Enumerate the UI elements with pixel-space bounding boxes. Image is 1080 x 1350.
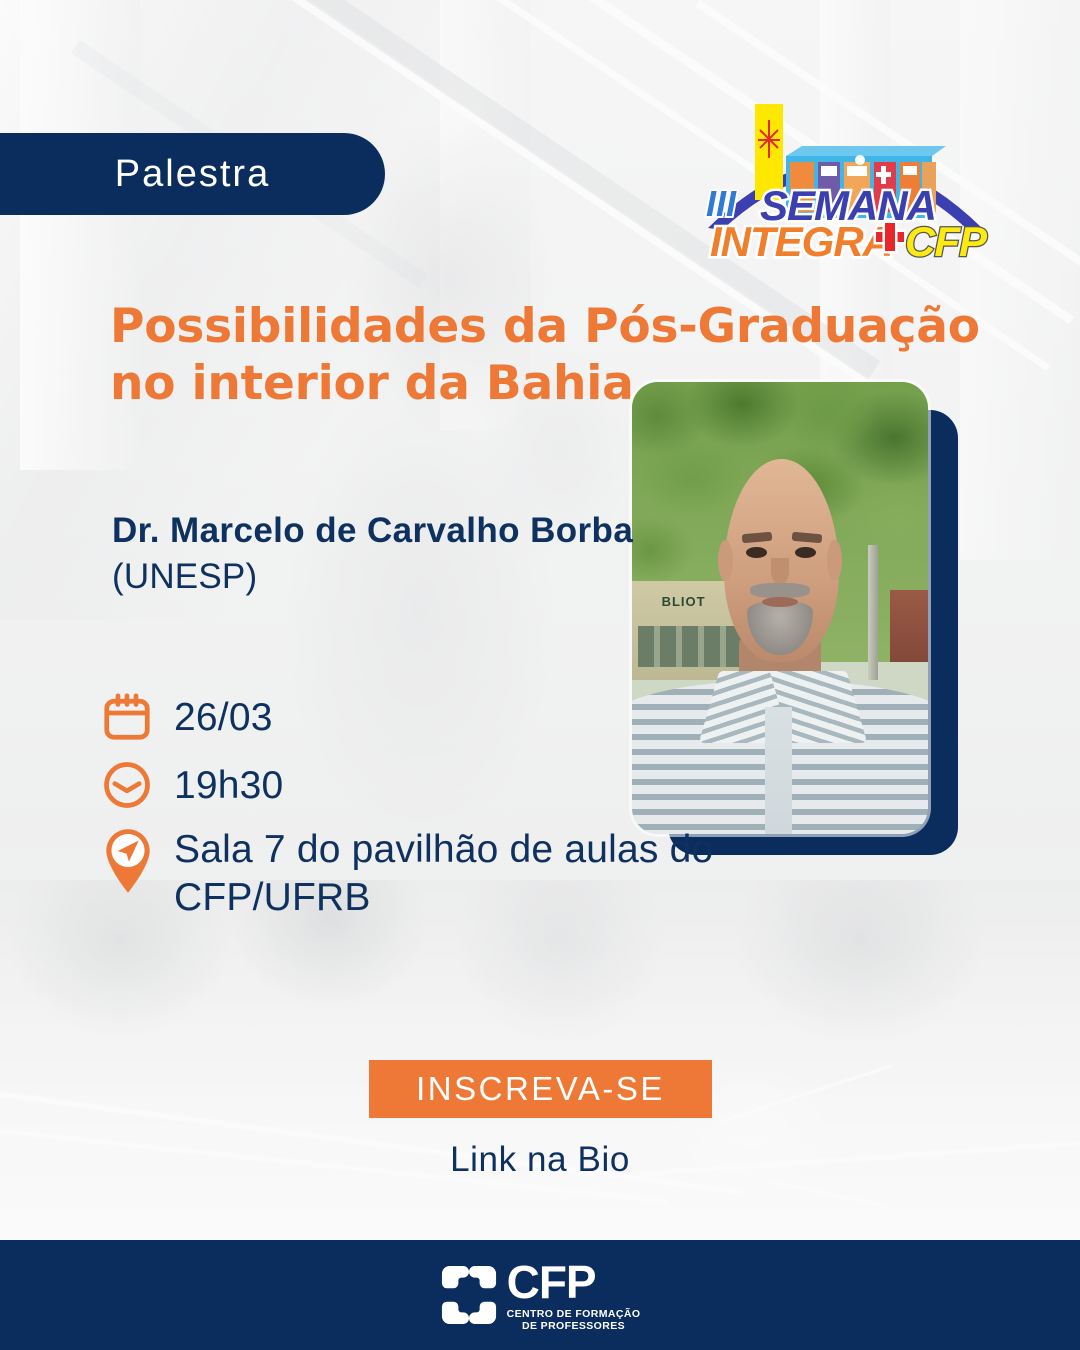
speaker-name: Dr. Marcelo de Carvalho Borba	[112, 511, 633, 550]
event-details: 26/03 19h30 Sala 7 do pavilhão de aulas …	[100, 690, 720, 935]
event-location: Sala 7 do pavilhão de aulas do CFP/UFRB	[174, 826, 720, 921]
event-time-row: 19h30	[100, 758, 720, 812]
event-time: 19h30	[174, 758, 283, 810]
event-date-row: 26/03	[100, 690, 720, 744]
cfp-bracket-icon	[440, 1264, 498, 1326]
speaker-block: Dr. Marcelo de Carvalho Borba (UNESP)	[112, 508, 652, 599]
event-date: 26/03	[174, 690, 273, 742]
inscreva-se-button[interactable]: INSCREVA-SE	[369, 1060, 712, 1118]
location-pin-icon	[100, 826, 174, 896]
cfp-logo: CFP CENTRO DE FORMAÇÃO DE PROFESSORES	[440, 1259, 641, 1332]
cfp-acronym: CFP	[507, 1259, 596, 1305]
palestra-badge: Palestra	[0, 133, 385, 215]
link-na-bio-text: Link na Bio	[0, 1140, 1080, 1180]
semana-integra-cfp-logo: III SEMANA INTEGRA CFP	[700, 100, 990, 270]
event-poster: Palestra	[0, 0, 1080, 1350]
footer-bar: CFP CENTRO DE FORMAÇÃO DE PROFESSORES	[0, 1240, 1080, 1350]
cfp-subtitle-line-1: CENTRO DE FORMAÇÃO	[507, 1309, 641, 1320]
speaker-affiliation: (UNESP)	[112, 557, 257, 596]
palestra-badge-label: Palestra	[115, 153, 270, 196]
inscreva-se-button-label: INSCREVA-SE	[416, 1070, 665, 1108]
calendar-icon	[100, 690, 174, 744]
title-line-1: Possibilidades da Pós-Graduação	[110, 298, 980, 355]
svg-text:CFP: CFP	[905, 218, 988, 265]
svg-text:INTEGRA: INTEGRA	[710, 218, 892, 265]
cfp-subtitle-line-2: DE PROFESSORES	[522, 1321, 625, 1332]
event-location-row: Sala 7 do pavilhão de aulas do CFP/UFRB	[100, 826, 720, 921]
clock-icon	[100, 758, 174, 812]
